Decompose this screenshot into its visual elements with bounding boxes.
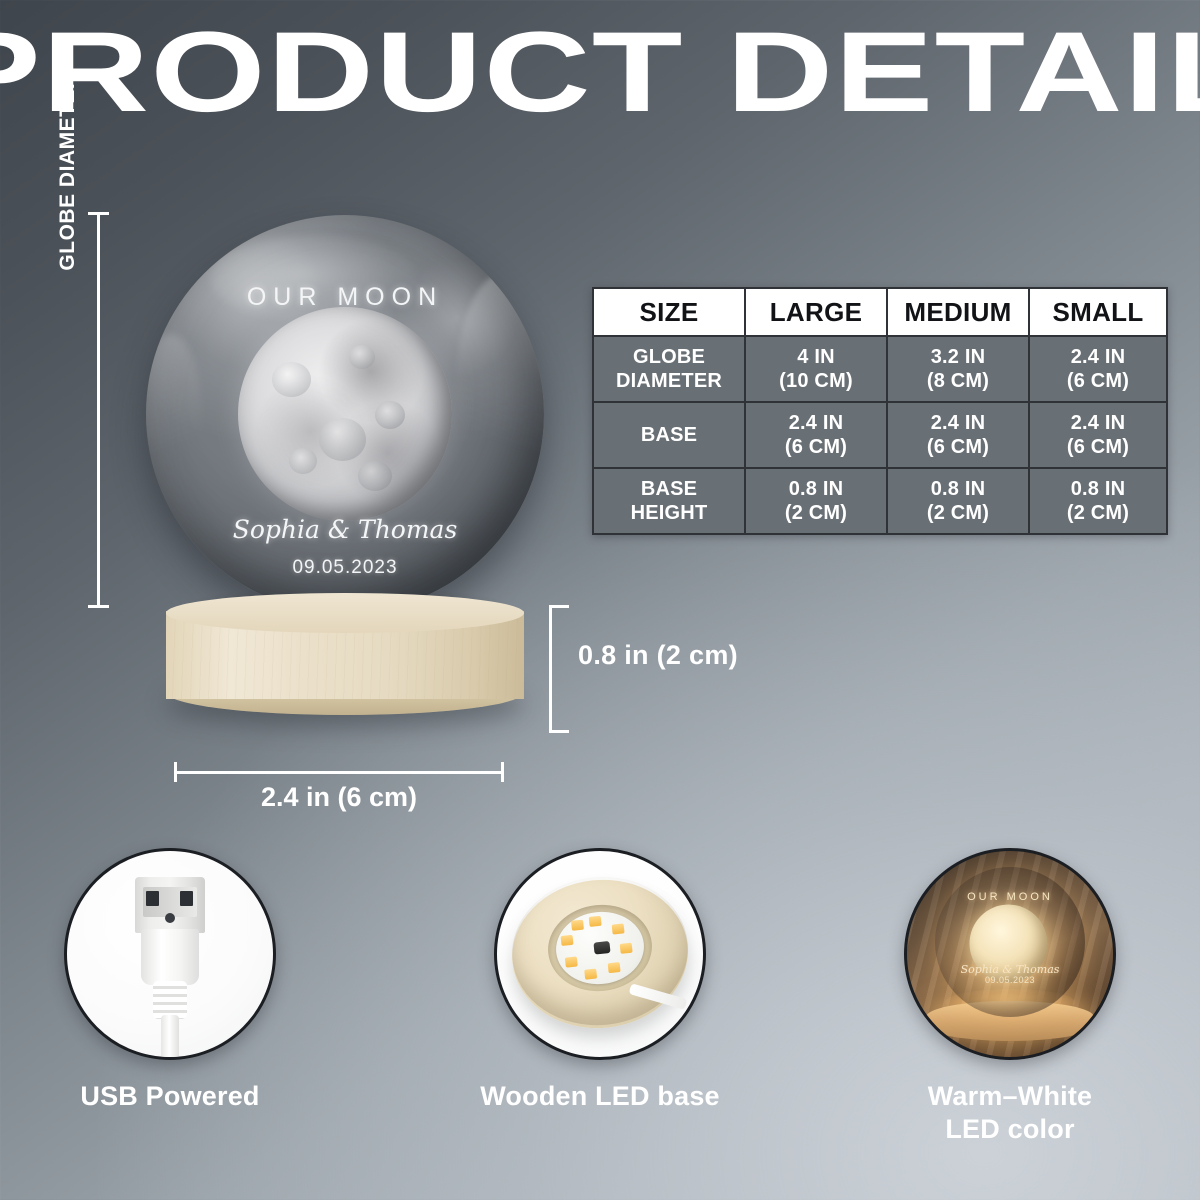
moon-crater <box>358 461 392 491</box>
row-label-globe-diameter: GLOBEDIAMETER <box>593 336 745 402</box>
led-chip <box>561 935 574 946</box>
moon-crater <box>272 362 311 396</box>
table-row: BASEHEIGHT 0.8 IN(2 CM) 0.8 IN(2 CM) 0.8… <box>593 468 1167 534</box>
cell-base-small: 2.4 IN(6 CM) <box>1029 402 1167 468</box>
usb-cable-icon <box>64 848 276 1060</box>
led-chip <box>612 923 625 934</box>
led-chip <box>584 968 597 979</box>
feature-usb-powered: USB Powered <box>0 848 370 1113</box>
moon-crater <box>349 345 375 369</box>
moon-crater <box>319 418 366 461</box>
usb-pin <box>180 891 193 906</box>
feature-label-wooden-base: Wooden LED base <box>400 1080 800 1113</box>
usb-strain-relief <box>153 981 187 1019</box>
base-top-ellipse <box>166 593 524 633</box>
cell-base-large: 2.4 IN(6 CM) <box>745 402 887 468</box>
base-width-label: 2.4 in (6 cm) <box>174 782 504 813</box>
lit-globe-title: OUR MOON <box>935 891 1085 903</box>
table-header-small: SMALL <box>1029 288 1167 336</box>
led-chip <box>620 942 633 953</box>
cell-globe-diameter-small: 2.4 IN(6 CM) <box>1029 336 1167 402</box>
led-center-component <box>593 941 610 955</box>
size-spec-table: SIZE LARGE MEDIUM SMALL GLOBEDIAMETER 4 … <box>592 287 1168 535</box>
usb-center-hole <box>165 913 175 923</box>
cell-base-height-small: 0.8 IN(2 CM) <box>1029 468 1167 534</box>
usb-cable-cord <box>161 1015 179 1060</box>
feature-wooden-led-base: Wooden LED base <box>400 848 800 1113</box>
caliper-line <box>97 212 100 608</box>
moon-crater <box>289 448 317 474</box>
cell-base-height-large: 0.8 IN(2 CM) <box>745 468 887 534</box>
feature-label-usb: USB Powered <box>0 1080 370 1113</box>
lit-crystal-globe: OUR MOON Sophia & Thomas 09.05.2023 <box>935 867 1085 1017</box>
caliper-line <box>549 605 552 733</box>
globe-diameter-label: GLOBE DIAMETER <box>56 42 80 302</box>
base-height-label: 0.8 in (2 cm) <box>578 640 738 671</box>
caliper-tick <box>549 605 569 608</box>
crystal-globe: OUR MOON Sophia & Thomas 09.05.2023 <box>146 215 544 613</box>
cell-globe-diameter-large: 4 IN(10 CM) <box>745 336 887 402</box>
globe-highlight-left-icon <box>146 334 202 493</box>
wooden-base <box>166 593 524 718</box>
table-header-size: SIZE <box>593 288 745 336</box>
globe-engraved-names: Sophia & Thomas <box>146 515 544 544</box>
globe-engraved-title: OUR MOON <box>146 283 544 312</box>
led-chip <box>571 919 584 930</box>
caliper-tick <box>88 605 109 608</box>
globe-engraved-date: 09.05.2023 <box>146 557 544 579</box>
product-illustration: OUR MOON Sophia & Thomas 09.05.2023 <box>108 195 568 765</box>
wooden-led-base-icon <box>494 848 706 1060</box>
feature-row: USB Powered Wooden LED base <box>0 848 1200 1188</box>
caliper-line <box>174 771 504 774</box>
cell-globe-diameter-medium: 3.2 IN(8 CM) <box>887 336 1029 402</box>
cell-base-height-medium: 0.8 IN(2 CM) <box>887 468 1029 534</box>
usb-pin <box>146 891 159 906</box>
row-label-base-height: BASEHEIGHT <box>593 468 745 534</box>
lit-globe-date: 09.05.2023 <box>935 975 1085 985</box>
page-title: PRODUCT DETAIL <box>0 14 1200 132</box>
row-label-base: BASE <box>593 402 745 468</box>
feature-warm-white-led: OUR MOON Sophia & Thomas 09.05.2023 Warm… <box>810 848 1200 1146</box>
moon-crater <box>375 401 405 429</box>
caliper-tick <box>501 762 504 782</box>
table-row: GLOBEDIAMETER 4 IN(10 CM) 3.2 IN(8 CM) 2… <box>593 336 1167 402</box>
usb-connector-body <box>141 929 199 985</box>
led-chip <box>565 956 578 967</box>
cell-base-medium: 2.4 IN(6 CM) <box>887 402 1029 468</box>
table-row: BASE 2.4 IN(6 CM) 2.4 IN(6 CM) 2.4 IN(6 … <box>593 402 1167 468</box>
table-header-row: SIZE LARGE MEDIUM SMALL <box>593 288 1167 336</box>
led-chip <box>589 916 602 927</box>
engraved-moon-icon <box>238 307 453 522</box>
caliper-tick <box>549 730 569 733</box>
page-title-banner: PRODUCT DETAIL <box>0 14 1200 132</box>
table-header-medium: MEDIUM <box>887 288 1029 336</box>
led-chip <box>608 962 621 973</box>
warm-white-lit-globe-icon: OUR MOON Sophia & Thomas 09.05.2023 <box>904 848 1116 1060</box>
feature-label-warm-white: Warm–WhiteLED color <box>810 1080 1200 1146</box>
table-header-large: LARGE <box>745 288 887 336</box>
